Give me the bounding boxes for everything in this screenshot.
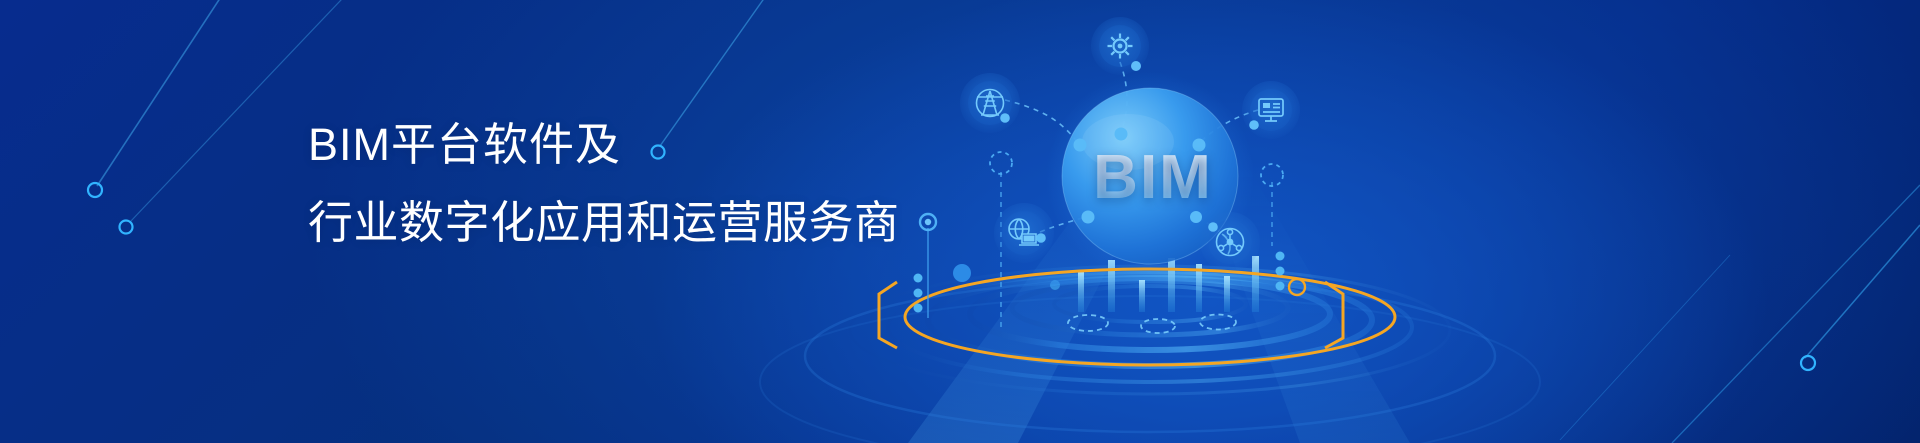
- gear-icon: [1108, 34, 1133, 59]
- node-network[interactable]: [1200, 212, 1260, 272]
- decor-circle: [88, 183, 102, 197]
- node-accent-dot: [1036, 233, 1046, 243]
- decor-dot-large: [953, 264, 971, 282]
- node-globe-laptop[interactable]: [994, 203, 1054, 263]
- node-monitor[interactable]: [1242, 81, 1300, 139]
- background-decor-lines: [0, 0, 1920, 443]
- platform-rings: [760, 266, 1540, 443]
- headline-line-1: BIM平台软件及: [308, 106, 948, 184]
- decor-circle: [1801, 356, 1815, 370]
- dot-column-left: [914, 274, 923, 313]
- node-accent-dot: [1208, 222, 1218, 232]
- headline-line-2: 行业数字化应用和运营服务商: [308, 184, 948, 262]
- decor-line-group-right: [1560, 185, 1920, 443]
- hero-headline: BIM平台软件及 行业数字化应用和运营服务商: [308, 106, 948, 262]
- node-gear[interactable]: [1091, 17, 1149, 75]
- hero-banner: BIM平台软件及 行业数字化应用和运营服务商 BIM: [0, 0, 1920, 443]
- node-accent-dot: [1131, 61, 1141, 71]
- node-accent-dot: [1000, 113, 1010, 123]
- decor-circle: [120, 221, 133, 234]
- node-accent-dot: [1249, 120, 1259, 130]
- node-power-tower[interactable]: [960, 73, 1020, 133]
- dot-column-right: [1276, 252, 1285, 291]
